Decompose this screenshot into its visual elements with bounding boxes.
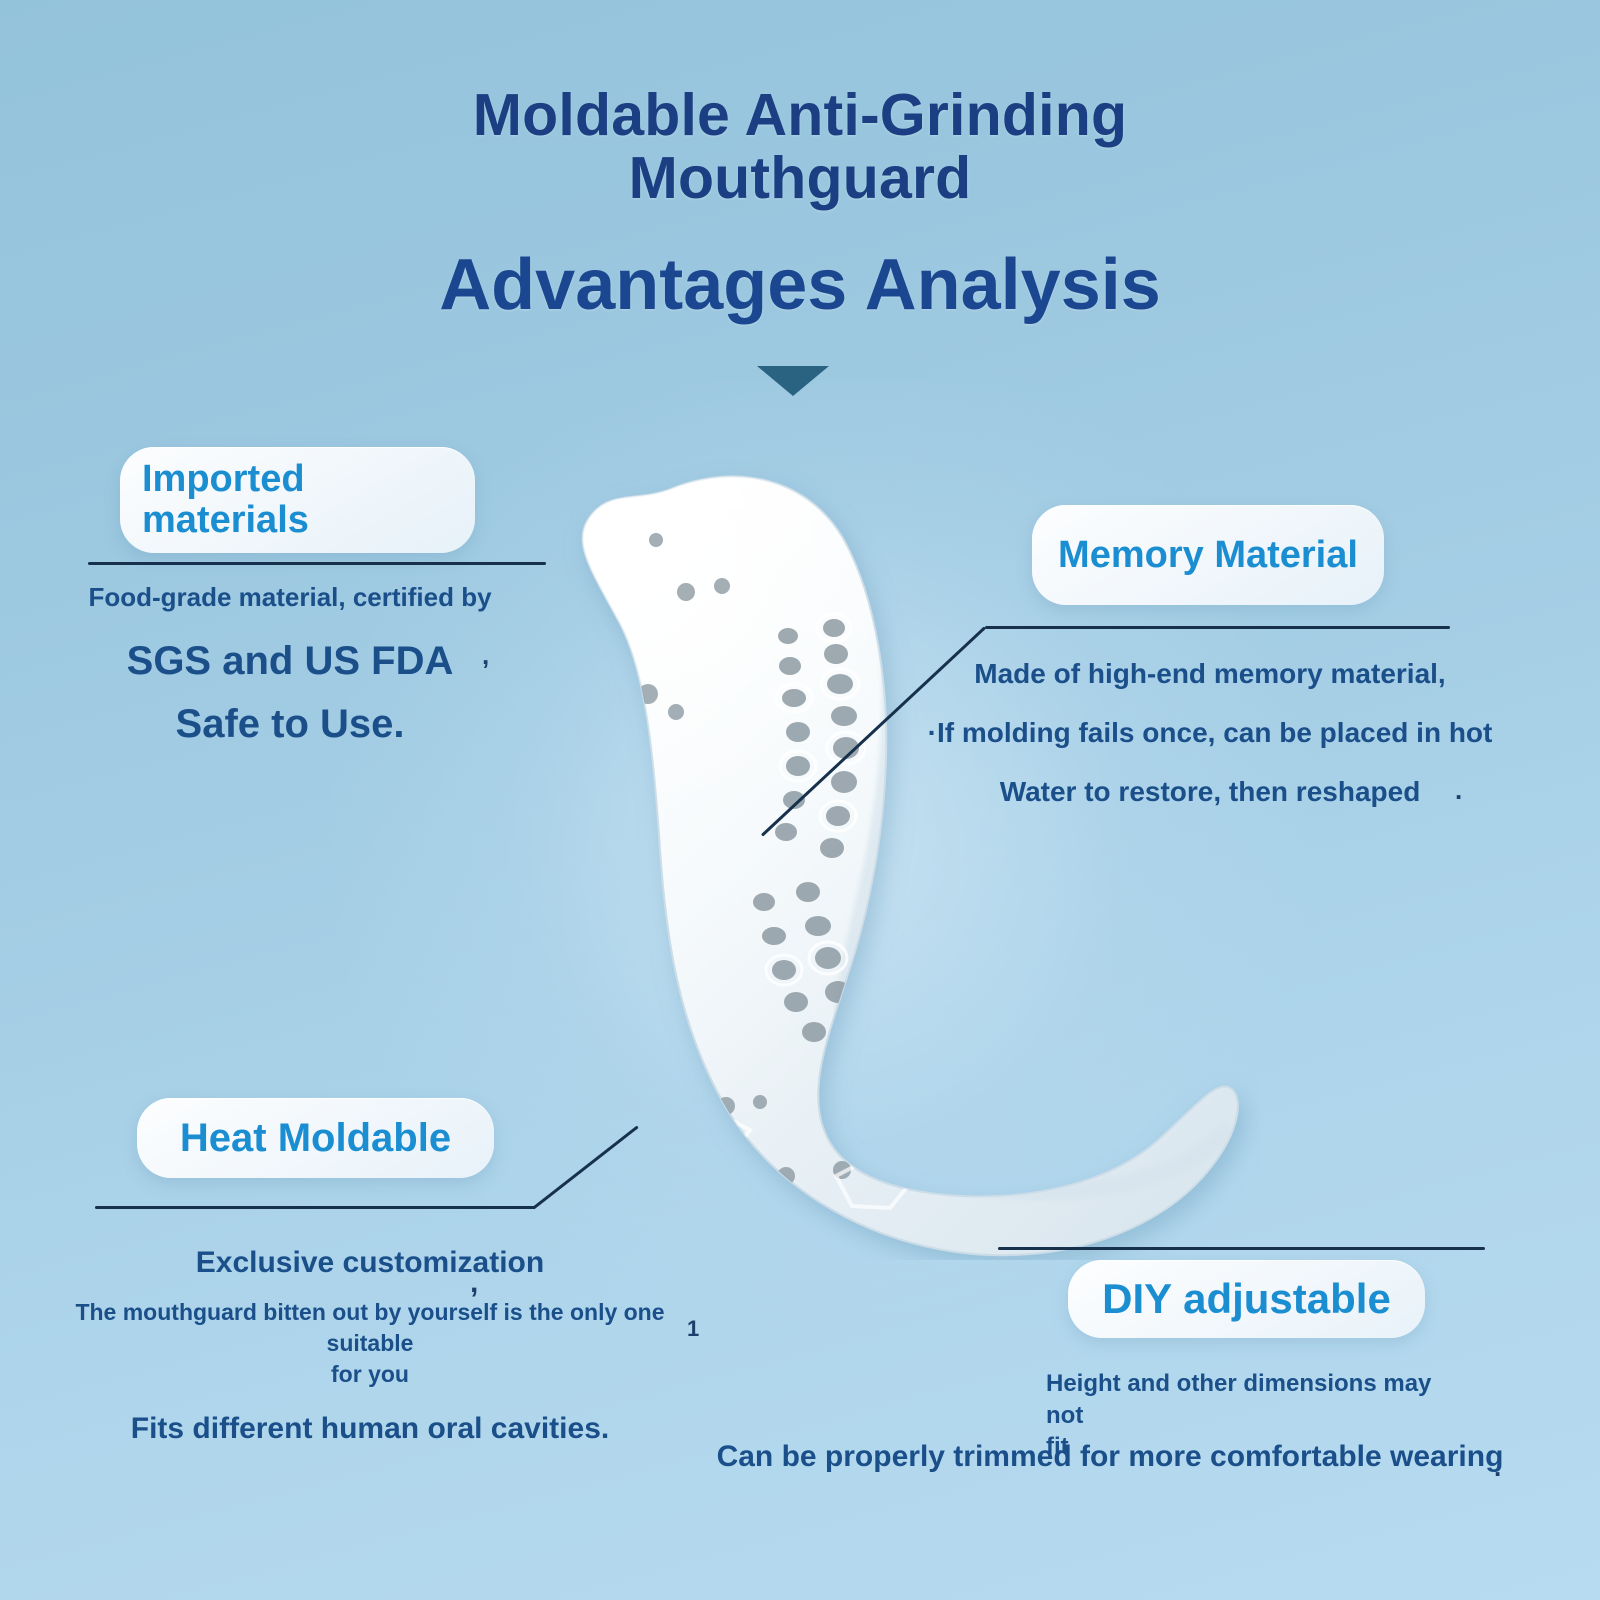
stray-mark-imported-materials: , — [482, 640, 489, 671]
memory-material-line-1: Made of high-end memory material, — [910, 645, 1510, 704]
title-line-1: Moldable Anti-Grinding — [0, 84, 1600, 147]
stray-mark-memory-material: . — [1455, 775, 1462, 806]
diy-adjustable-line-1: Height and other dimensions may not — [1046, 1368, 1466, 1431]
label-memory-material: Memory Material — [1032, 505, 1384, 605]
page-subtitle: Advantages Analysis — [0, 248, 1600, 324]
label-heat-moldable: Heat Moldable — [137, 1098, 494, 1178]
text-diy-adjustable-trim: Can be properly trimmed for more comfort… — [700, 1436, 1520, 1478]
heat-moldable-line-1: Exclusive customization — [30, 1240, 710, 1285]
imported-materials-line-2: SGS and US FDA — [40, 629, 540, 694]
text-heat-moldable: Exclusive customization The mouthguard b… — [30, 1240, 710, 1451]
label-memory-material-text: Memory Material — [1058, 534, 1358, 577]
page-title: Moldable Anti-Grinding Mouthguard Advant… — [0, 84, 1600, 324]
imported-materials-line-3: Safe to Use. — [40, 694, 540, 754]
connector-line-heat-moldable — [95, 1206, 535, 1209]
title-line-2: Mouthguard — [0, 147, 1600, 210]
heat-moldable-line-2: The mouthguard bitten out by yourself is… — [30, 1297, 710, 1359]
stray-mark-heat-moldable-one: 1 — [687, 1316, 699, 1342]
text-imported-materials: Food-grade material, certified by SGS an… — [40, 578, 540, 754]
diy-adjustable-line-3: Can be properly trimmed for more comfort… — [700, 1436, 1520, 1478]
label-diy-adjustable: DIY adjustable — [1068, 1260, 1425, 1338]
text-memory-material: Made of high-end memory material, ·If mo… — [910, 645, 1510, 821]
connector-line-diy-adjustable — [998, 1247, 1485, 1250]
heat-moldable-line-3: for you — [30, 1359, 710, 1390]
stray-mark-heat-moldable-comma: , — [470, 1266, 478, 1300]
memory-material-line-2: ·If molding fails once, can be placed in… — [910, 704, 1510, 763]
label-diy-adjustable-text: DIY adjustable — [1102, 1275, 1391, 1323]
stray-mark-diy-adjustable: . — [1494, 1452, 1501, 1483]
label-imported-materials-line2: materials — [142, 500, 309, 541]
heat-moldable-line-4: Fits different human oral cavities. — [30, 1406, 710, 1451]
triangle-down-icon — [757, 366, 829, 396]
memory-material-line-3: Water to restore, then reshaped — [910, 763, 1510, 822]
label-heat-moldable-text: Heat Moldable — [180, 1116, 451, 1161]
connector-line-memory-material — [985, 626, 1450, 629]
label-imported-materials: Imported materials — [120, 447, 475, 553]
connector-line-imported-materials — [88, 562, 546, 565]
imported-materials-line-1: Food-grade material, certified by — [40, 578, 540, 617]
label-imported-materials-line1: Imported — [142, 459, 305, 500]
